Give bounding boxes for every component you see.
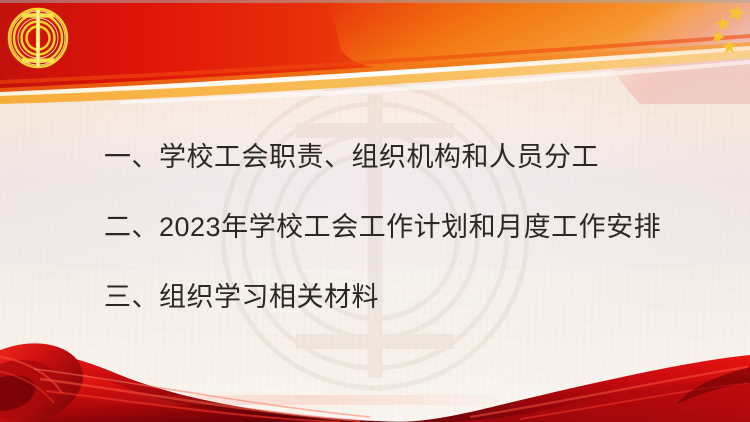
slide-footer-ribbon: [0, 327, 750, 422]
agenda-item-3: 三、组织学习相关材料: [104, 284, 379, 311]
agenda-item-1: 一、学校工会职责、组织机构和人员分工: [104, 144, 599, 171]
presentation-slide: 一、学校工会职责、组织机构和人员分工 二、2023年学校工会工作计划和月度工作安…: [0, 0, 750, 422]
agenda-item-2: 二、2023年学校工会工作计划和月度工作安排: [104, 214, 661, 241]
